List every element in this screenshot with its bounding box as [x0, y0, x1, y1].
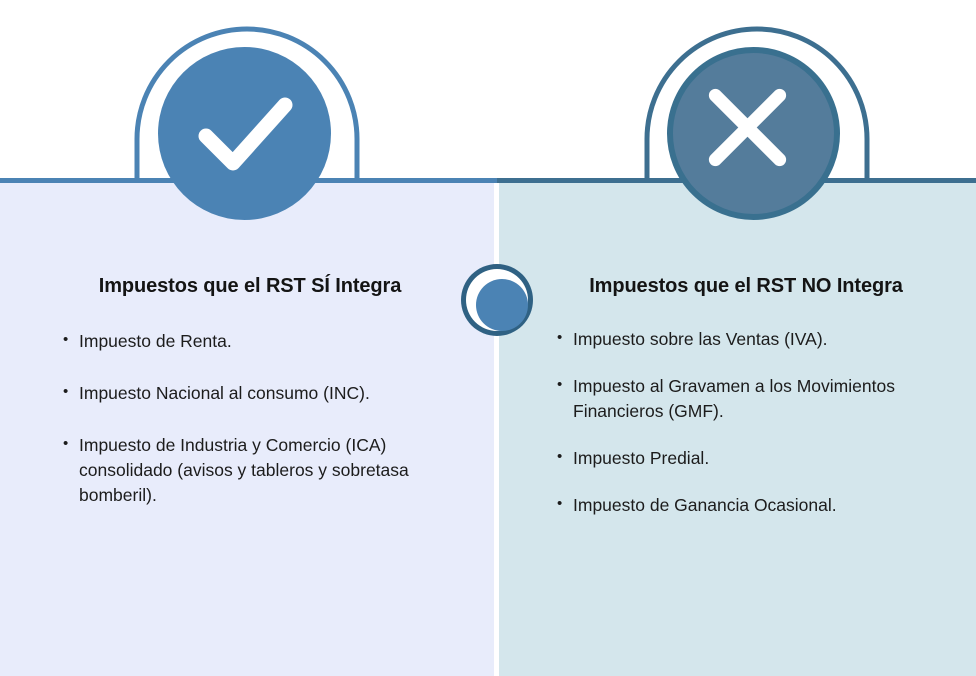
check-icon — [158, 47, 331, 220]
cross-badge — [667, 47, 840, 220]
list-item: Impuesto de Ganancia Ocasional. — [556, 493, 956, 518]
left-column-title: Impuestos que el RST SÍ Integra — [40, 272, 460, 300]
right-bullet-list: Impuesto sobre las Ventas (IVA). Impuest… — [536, 327, 956, 517]
list-item: Impuesto Nacional al consumo (INC). — [62, 381, 460, 406]
divider-dot-icon — [461, 264, 533, 336]
list-item: Impuesto Predial. — [556, 446, 956, 471]
divider-dot-core — [476, 279, 528, 331]
list-item: Impuesto sobre las Ventas (IVA). — [556, 327, 956, 352]
check-badge — [158, 47, 331, 220]
right-column-title: Impuestos que el RST NO Integra — [536, 272, 956, 300]
list-item: Impuesto de Renta. — [62, 329, 460, 354]
right-column: Impuestos que el RST NO Integra Impuesto… — [536, 272, 956, 540]
left-bullet-list: Impuesto de Renta. Impuesto Nacional al … — [40, 329, 460, 507]
list-item: Impuesto de Industria y Comercio (ICA) c… — [62, 433, 460, 508]
left-column: Impuestos que el RST SÍ Integra Impuesto… — [40, 272, 460, 535]
divider-dot-white-gap — [466, 269, 528, 331]
infographic-root: Impuestos que el RST SÍ Integra Impuesto… — [0, 0, 976, 676]
list-item: Impuesto al Gravamen a los Movimientos F… — [556, 374, 956, 424]
cross-icon — [667, 47, 828, 208]
